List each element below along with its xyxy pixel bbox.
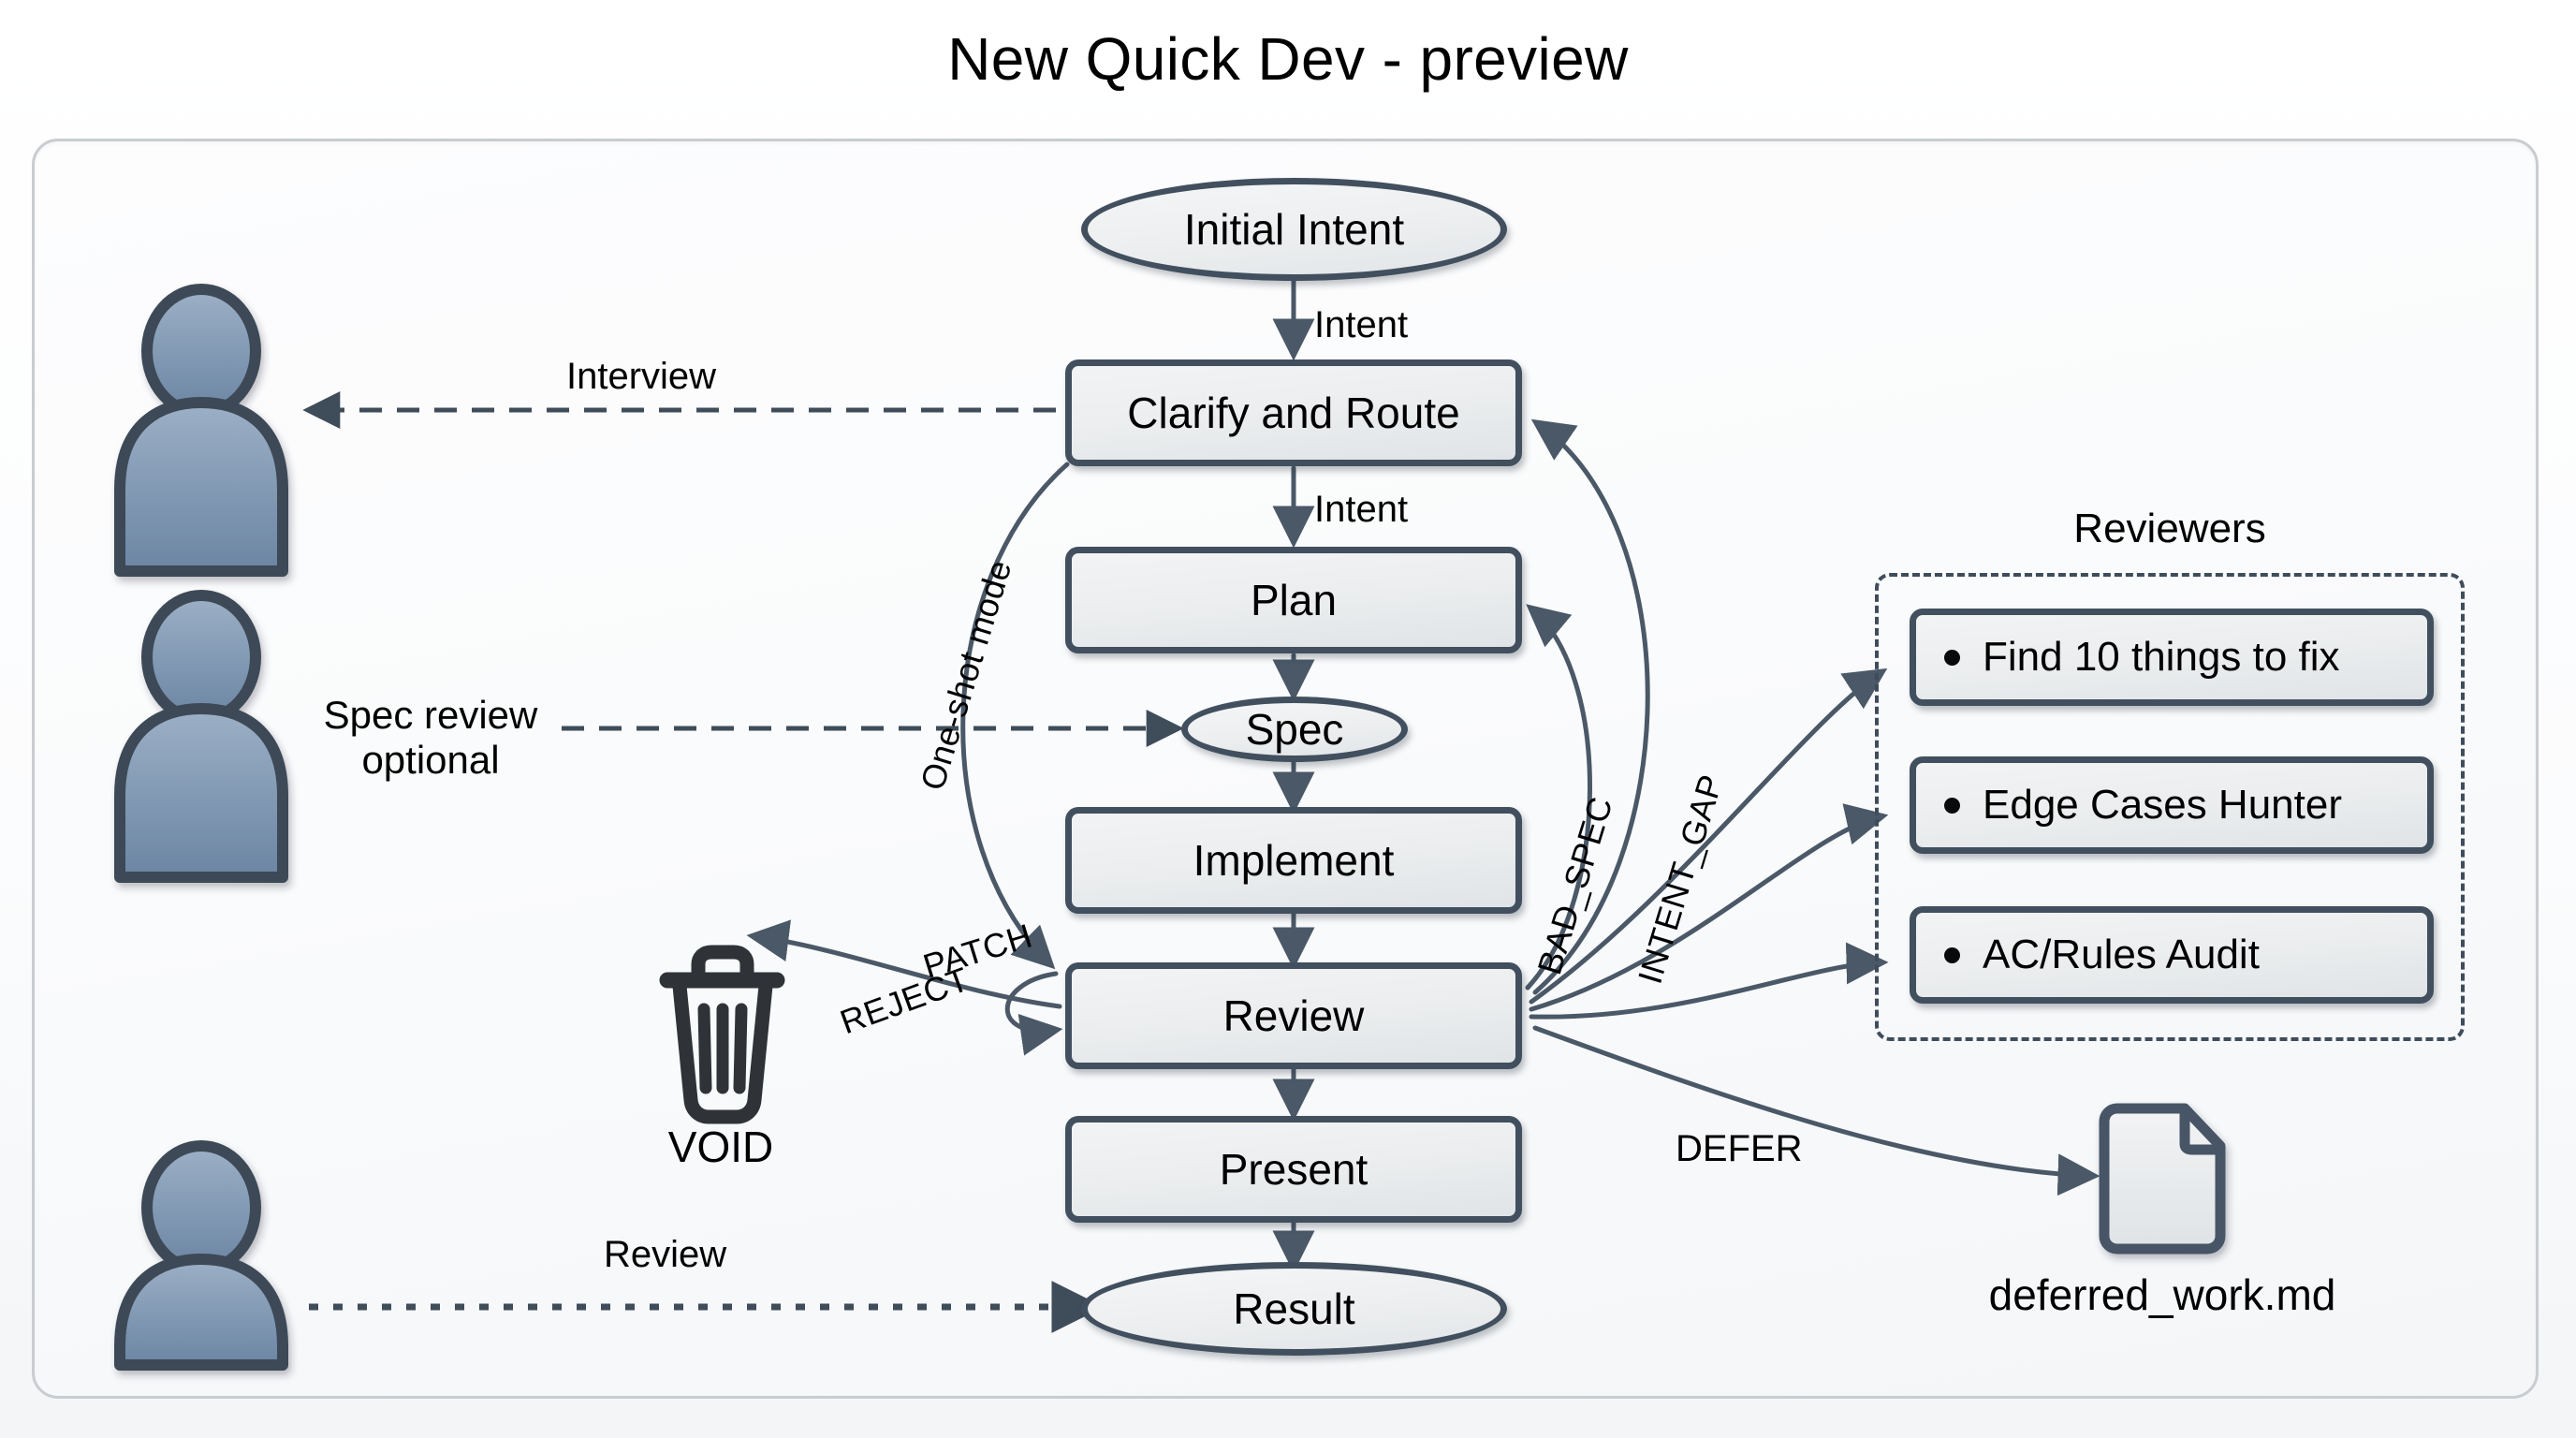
actor-interview-icon	[120, 289, 283, 571]
bullet-icon	[1944, 798, 1960, 814]
edge-label-intent-2: Intent	[1314, 489, 1408, 531]
reviewer-find-10-things-to-fix[interactable]: Find 10 things to fix	[1910, 609, 2434, 706]
node-label: Present	[1220, 1144, 1368, 1195]
reviewer-label: AC/Rules Audit	[1983, 932, 2260, 978]
node-initial-intent[interactable]: Initial Intent	[1081, 178, 1507, 281]
edge-label-review-actor: Review	[604, 1234, 726, 1276]
node-implement[interactable]: Implement	[1065, 807, 1522, 914]
node-label: Implement	[1193, 835, 1395, 886]
node-review[interactable]: Review	[1065, 962, 1522, 1069]
edge-label-spec-review-optional: Spec review optional	[295, 693, 566, 784]
edge-label-intent-1: Intent	[1314, 304, 1408, 346]
node-plan[interactable]: Plan	[1065, 547, 1522, 653]
actor-review-icon	[120, 1146, 283, 1365]
diagram-canvas: New Quick Dev - preview	[0, 0, 2576, 1438]
reviewer-edge-cases-hunter[interactable]: Edge Cases Hunter	[1910, 756, 2434, 854]
edge-label-interview: Interview	[566, 356, 716, 398]
node-present[interactable]: Present	[1065, 1116, 1522, 1223]
node-label: Result	[1233, 1284, 1354, 1334]
node-spec[interactable]: Spec	[1181, 697, 1408, 762]
bullet-icon	[1944, 947, 1960, 963]
node-label: Plan	[1251, 575, 1337, 625]
node-result[interactable]: Result	[1081, 1262, 1507, 1356]
edge-label-defer: DEFER	[1676, 1128, 1803, 1170]
edge-one-shot-mode	[963, 464, 1067, 964]
void-label: VOID	[608, 1122, 833, 1172]
node-label: Spec	[1246, 704, 1344, 755]
reviewer-label: Edge Cases Hunter	[1983, 782, 2342, 829]
reviewer-label: Find 10 things to fix	[1983, 634, 2340, 681]
trash-icon	[667, 952, 777, 1117]
edge-defer-to-doc	[1535, 1028, 2093, 1176]
actor-spec-review-icon	[120, 595, 283, 877]
reviewers-group-title: Reviewers	[1875, 506, 2465, 552]
node-clarify-and-route[interactable]: Clarify and Route	[1065, 359, 1522, 466]
bullet-icon	[1944, 650, 1960, 666]
node-label: Review	[1223, 990, 1365, 1041]
reviewer-ac-rules-audit[interactable]: AC/Rules Audit	[1910, 906, 2434, 1004]
document-icon	[2104, 1108, 2220, 1249]
node-label: Clarify and Route	[1127, 388, 1459, 438]
node-label: Initial Intent	[1184, 204, 1404, 255]
deferred-work-label: deferred_work.md	[1919, 1269, 2406, 1320]
